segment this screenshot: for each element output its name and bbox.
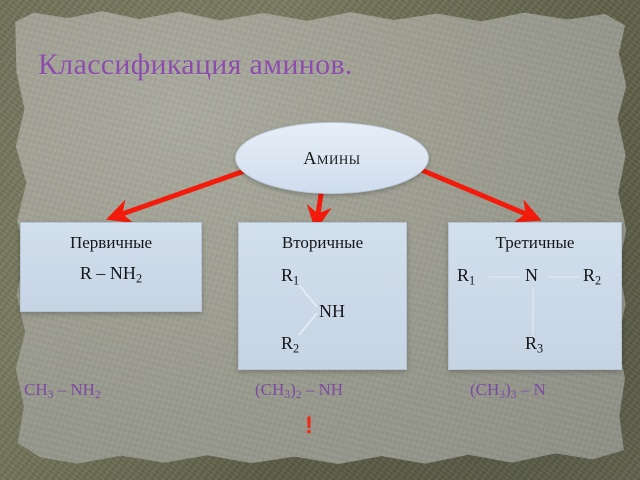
- substituent-r3-tertiary: R3: [525, 333, 543, 356]
- category-box-primary[interactable]: Первичные R – NH2: [20, 222, 202, 312]
- r2-subscript-secondary: 2: [293, 341, 299, 355]
- ex1-prefix: CH: [24, 380, 48, 399]
- formula-primary-subscript: 2: [136, 271, 142, 285]
- center-atom-secondary: NH: [319, 301, 345, 322]
- slide-canvas: Классификация аминов. Амины Первичные R …: [0, 0, 640, 480]
- r2-label-tertiary: R: [583, 265, 595, 285]
- example-formula-trimethylamine: (CH3)3 – N: [470, 380, 546, 401]
- exclamation-mark-icon: !: [305, 412, 313, 440]
- substituent-r1-tertiary: R1: [457, 265, 475, 288]
- r3-label-tertiary: R: [525, 333, 537, 353]
- center-atom-tertiary: N: [525, 265, 538, 286]
- formula-primary: R – NH2: [21, 263, 201, 286]
- formula-primary-text: R – NH: [80, 263, 136, 283]
- r2-label-secondary: R: [281, 333, 293, 353]
- ex1-suffix: – NH: [53, 380, 95, 399]
- ex1-suffix-subscript: 2: [95, 388, 101, 401]
- ex2-suffix: – NH: [302, 380, 344, 399]
- category-box-secondary[interactable]: Вторичные R1 NH R2: [238, 222, 407, 370]
- r1-subscript-secondary: 1: [293, 273, 299, 287]
- root-node-label: Амины: [303, 148, 360, 169]
- ex2-prefix: (CH: [255, 380, 284, 399]
- r2-subscript-tertiary: 2: [595, 273, 601, 287]
- category-box-tertiary[interactable]: Третичные R1 N R2 R3: [448, 222, 622, 370]
- category-title-primary: Первичные: [21, 233, 201, 253]
- example-formula-methylamine: CH3 – NH2: [24, 380, 101, 401]
- bond-lines-secondary: [239, 223, 406, 369]
- example-formula-dimethylamine: (CH3)2 – NH: [255, 380, 343, 401]
- substituent-r2-tertiary: R2: [583, 265, 601, 288]
- root-node-amines[interactable]: Амины: [235, 122, 429, 194]
- r3-subscript-tertiary: 3: [537, 341, 543, 355]
- substituent-r1-secondary: R1: [281, 265, 299, 288]
- page-title: Классификация аминов.: [38, 48, 353, 82]
- ex3-suffix: – N: [517, 380, 546, 399]
- ex3-prefix: (CH: [470, 380, 499, 399]
- r1-subscript-tertiary: 1: [469, 273, 475, 287]
- substituent-r2-secondary: R2: [281, 333, 299, 356]
- r1-label-tertiary: R: [457, 265, 469, 285]
- r1-label-secondary: R: [281, 265, 293, 285]
